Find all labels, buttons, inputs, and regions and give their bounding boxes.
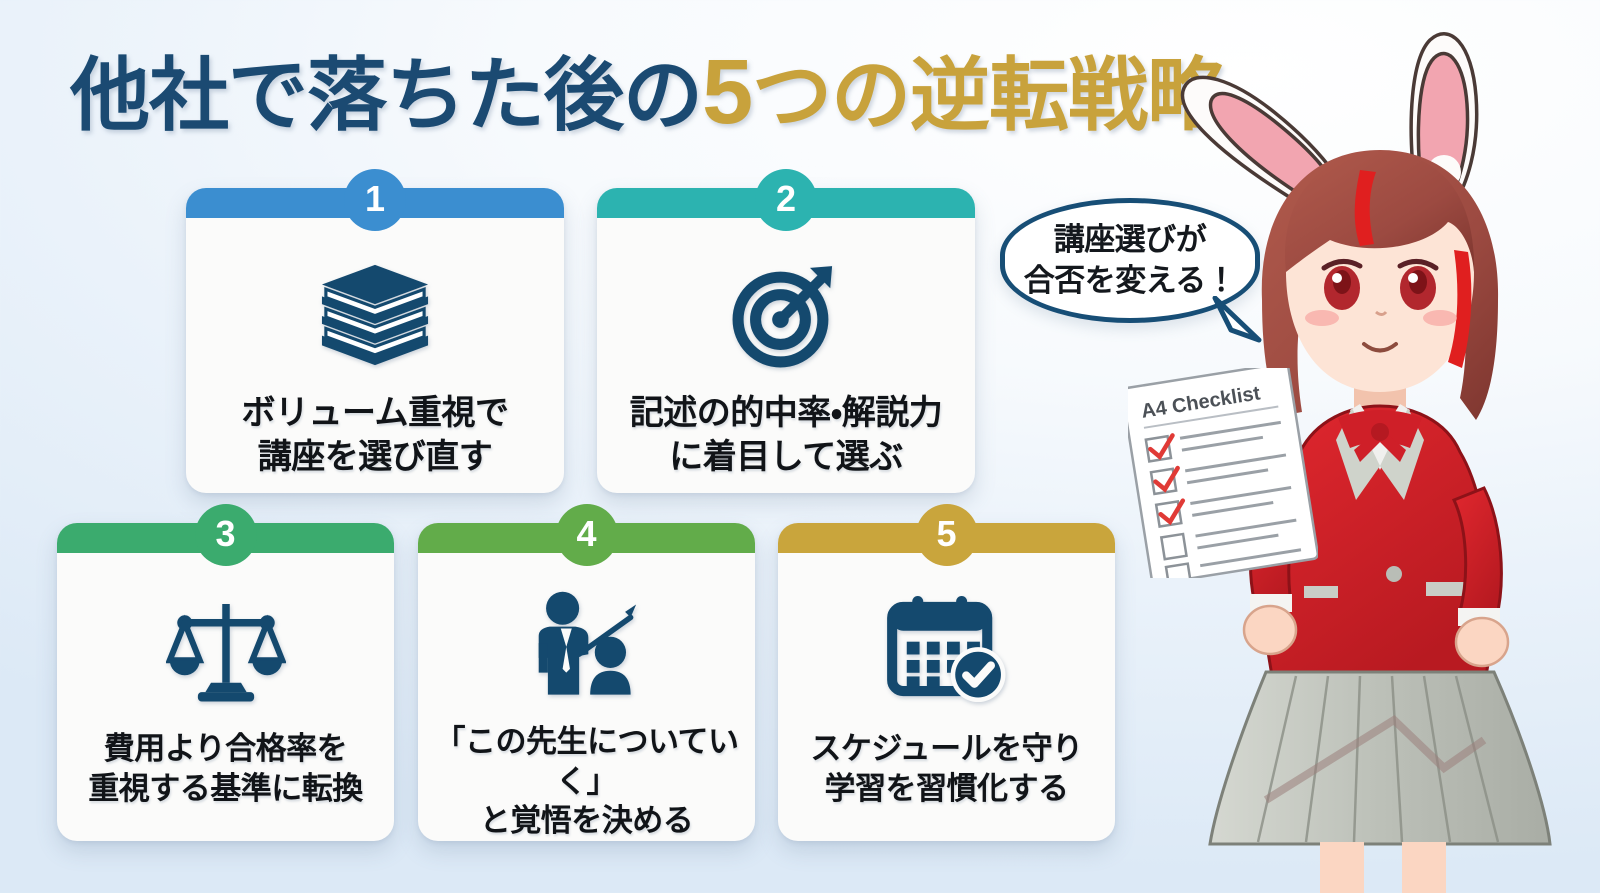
checklist-paper: A4 Checklist <box>1128 368 1318 578</box>
target-icon <box>727 244 845 384</box>
blush-left <box>1305 310 1339 326</box>
card-label-3: 費用より合格率を 重視する基準に転換 <box>88 729 363 808</box>
blush-right <box>1423 310 1457 326</box>
leg-left <box>1320 842 1364 893</box>
blazer-button <box>1386 566 1402 582</box>
balance-scale-icon <box>166 575 286 723</box>
teacher-icon <box>524 575 649 716</box>
infographic-canvas: 他社で落ちた後の5つの逆転戦略 1 ボリューム重視で 講座を選び直す <box>0 0 1600 893</box>
hand-right <box>1456 618 1508 666</box>
card-label-2: 記述の的中率・解説力 に着目して選ぶ <box>630 392 943 479</box>
hand-left <box>1244 606 1296 654</box>
card-number-3: 3 <box>215 516 235 552</box>
calendar-check-icon <box>883 575 1011 723</box>
card-number-4: 4 <box>576 516 596 552</box>
strategy-card-3[interactable]: 3 費用より合格率を 重視する基準に転換 <box>57 523 394 841</box>
card-body-2: 記述の的中率・解説力 に着目して選ぶ <box>597 218 975 493</box>
strategy-card-4[interactable]: 4 「この先生についていく」 と覚悟を決める <box>418 523 755 841</box>
strategy-card-2[interactable]: 2 記述の的中率・解説力 に着目して選ぶ <box>597 188 975 493</box>
card-number-5: 5 <box>936 516 956 552</box>
leg-right <box>1402 842 1446 893</box>
card-body-3: 費用より合格率を 重視する基準に転換 <box>57 553 394 841</box>
card-body-5: スケジュールを守り 学習を習慣化する <box>778 553 1115 841</box>
card-label-1: ボリューム重視で 講座を選び直す <box>242 392 509 479</box>
card-body-4: 「この先生についていく」 と覚悟を決める <box>418 553 755 841</box>
card-number-1: 1 <box>365 181 385 217</box>
card-label-4: 「この先生についていく」 と覚悟を決める <box>418 722 755 841</box>
pocket-left <box>1304 586 1338 598</box>
strategy-card-1[interactable]: 1 ボリューム重視で 講座を選び直す <box>186 188 564 493</box>
page-title: 他社で落ちた後の5つの逆転戦略 <box>70 44 1226 141</box>
strategy-card-5[interactable]: 5 スケジュールを守り 学習を習慣化する <box>778 523 1115 841</box>
pocket-right <box>1426 582 1466 596</box>
title-part-number: 5 <box>702 41 752 143</box>
books-icon <box>312 244 438 384</box>
card-label-5: スケジュールを守り 学習を習慣化する <box>810 729 1082 808</box>
card-body-1: ボリューム重視で 講座を選び直す <box>186 218 564 493</box>
skirt <box>1210 672 1550 844</box>
card-number-2: 2 <box>776 181 796 217</box>
title-part-navy: 他社で落ちた後の <box>70 51 702 140</box>
